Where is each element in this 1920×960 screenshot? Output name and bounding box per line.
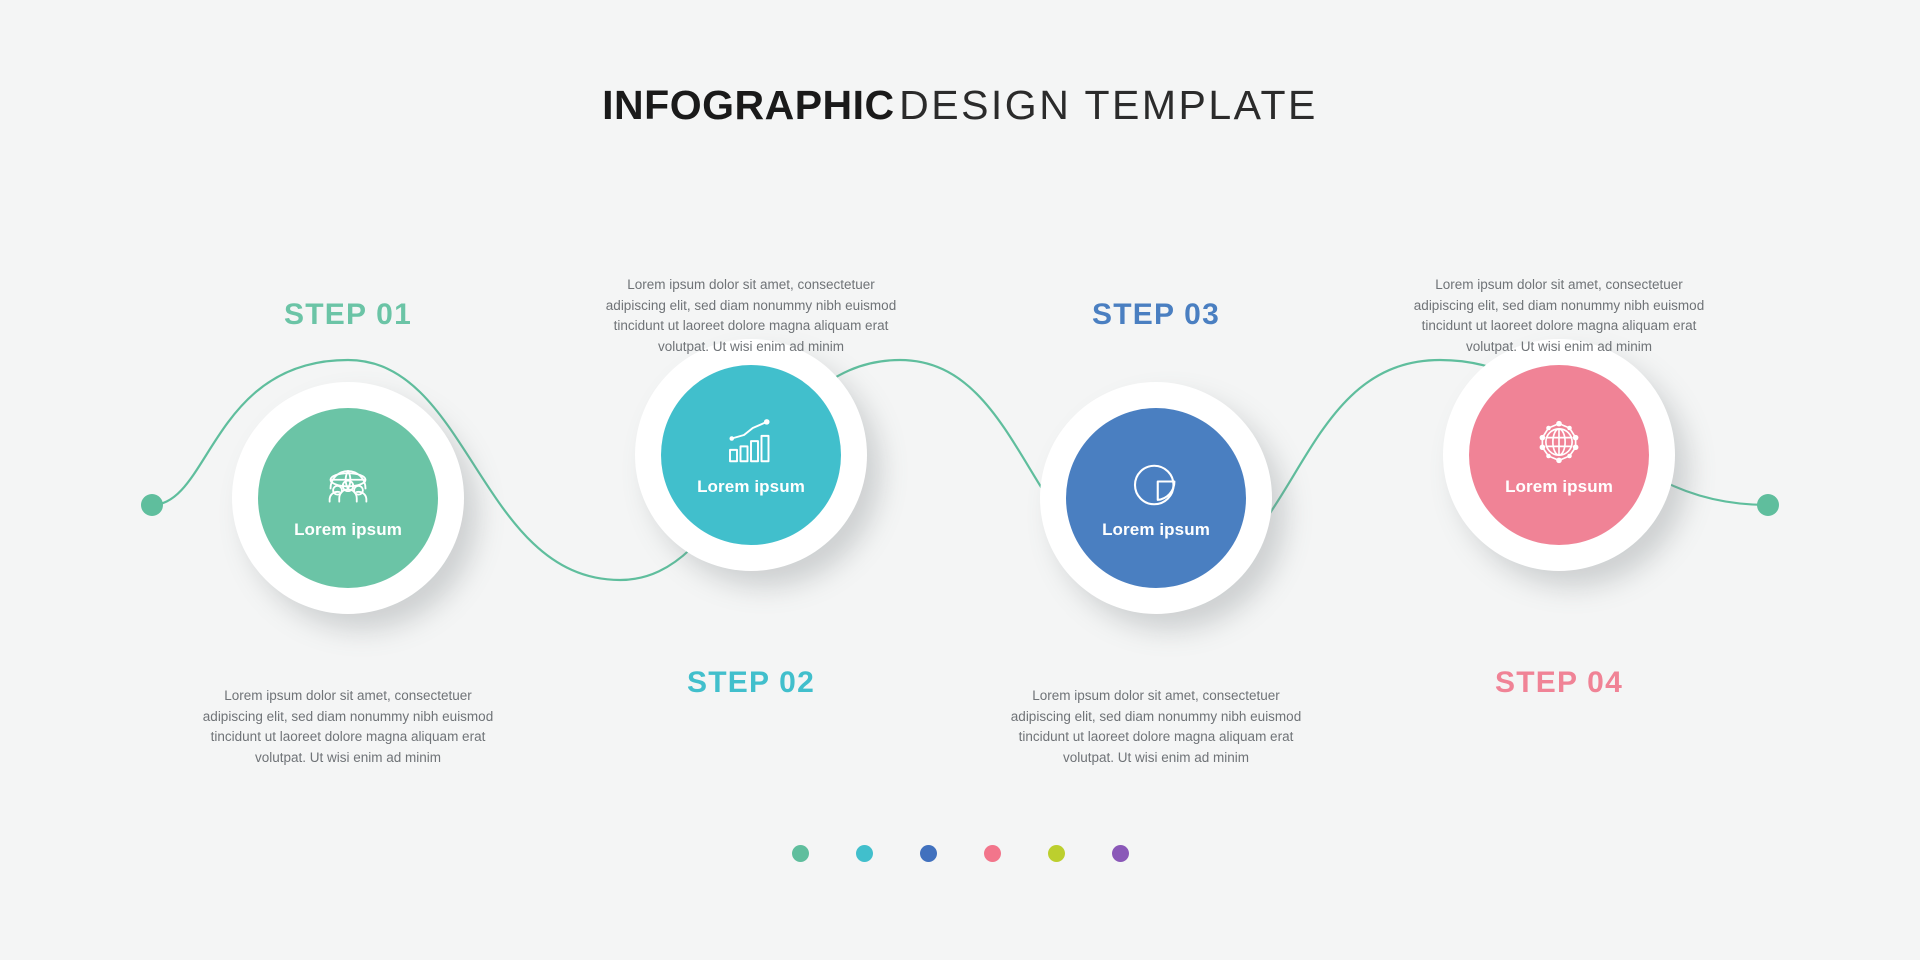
step-label-3: STEP 03 — [1056, 298, 1256, 332]
legend-dot-row — [0, 845, 1920, 862]
legend-dot-1[interactable] — [792, 845, 809, 862]
legend-dot-3[interactable] — [920, 845, 937, 862]
page-title: INFOGRAPHIC DESIGN TEMPLATE — [0, 82, 1920, 129]
step-node-1[interactable]: Lorem ipsum — [232, 382, 464, 614]
step-node-2[interactable]: Lorem ipsum — [635, 339, 867, 571]
legend-dot-5[interactable] — [1048, 845, 1065, 862]
pie-chart-icon — [1128, 457, 1184, 513]
step-node-2-disc: Lorem ipsum — [661, 365, 841, 545]
legend-dot-4[interactable] — [984, 845, 1001, 862]
step-node-1-label: Lorem ipsum — [294, 520, 402, 540]
title-bold-part: INFOGRAPHIC — [602, 82, 895, 128]
step-node-3[interactable]: Lorem ipsum — [1040, 382, 1272, 614]
step-description-3: Lorem ipsum dolor sit amet, consectetuer… — [1006, 686, 1306, 768]
step-label-4: STEP 04 — [1459, 666, 1659, 700]
step-label-1: STEP 01 — [248, 298, 448, 332]
connector-endpoint-right — [1757, 494, 1779, 516]
globe-people-icon — [320, 457, 376, 513]
step-node-3-disc: Lorem ipsum — [1066, 408, 1246, 588]
legend-dot-2[interactable] — [856, 845, 873, 862]
network-globe-icon — [1531, 414, 1587, 470]
step-label-2: STEP 02 — [651, 666, 851, 700]
bar-chart-growth-icon — [723, 414, 779, 470]
step-node-4-label: Lorem ipsum — [1505, 477, 1613, 497]
step-node-4[interactable]: Lorem ipsum — [1443, 339, 1675, 571]
connector-endpoint-left — [141, 494, 163, 516]
step-description-1: Lorem ipsum dolor sit amet, consectetuer… — [198, 686, 498, 768]
step-node-2-label: Lorem ipsum — [697, 477, 805, 497]
step-node-1-disc: Lorem ipsum — [258, 408, 438, 588]
step-description-2: Lorem ipsum dolor sit amet, consectetuer… — [601, 275, 901, 357]
legend-dot-6[interactable] — [1112, 845, 1129, 862]
step-node-3-label: Lorem ipsum — [1102, 520, 1210, 540]
title-light-part: DESIGN TEMPLATE — [899, 82, 1318, 128]
step-node-4-disc: Lorem ipsum — [1469, 365, 1649, 545]
infographic-canvas: INFOGRAPHIC DESIGN TEMPLATE — [0, 0, 1920, 960]
step-description-4: Lorem ipsum dolor sit amet, consectetuer… — [1409, 275, 1709, 357]
